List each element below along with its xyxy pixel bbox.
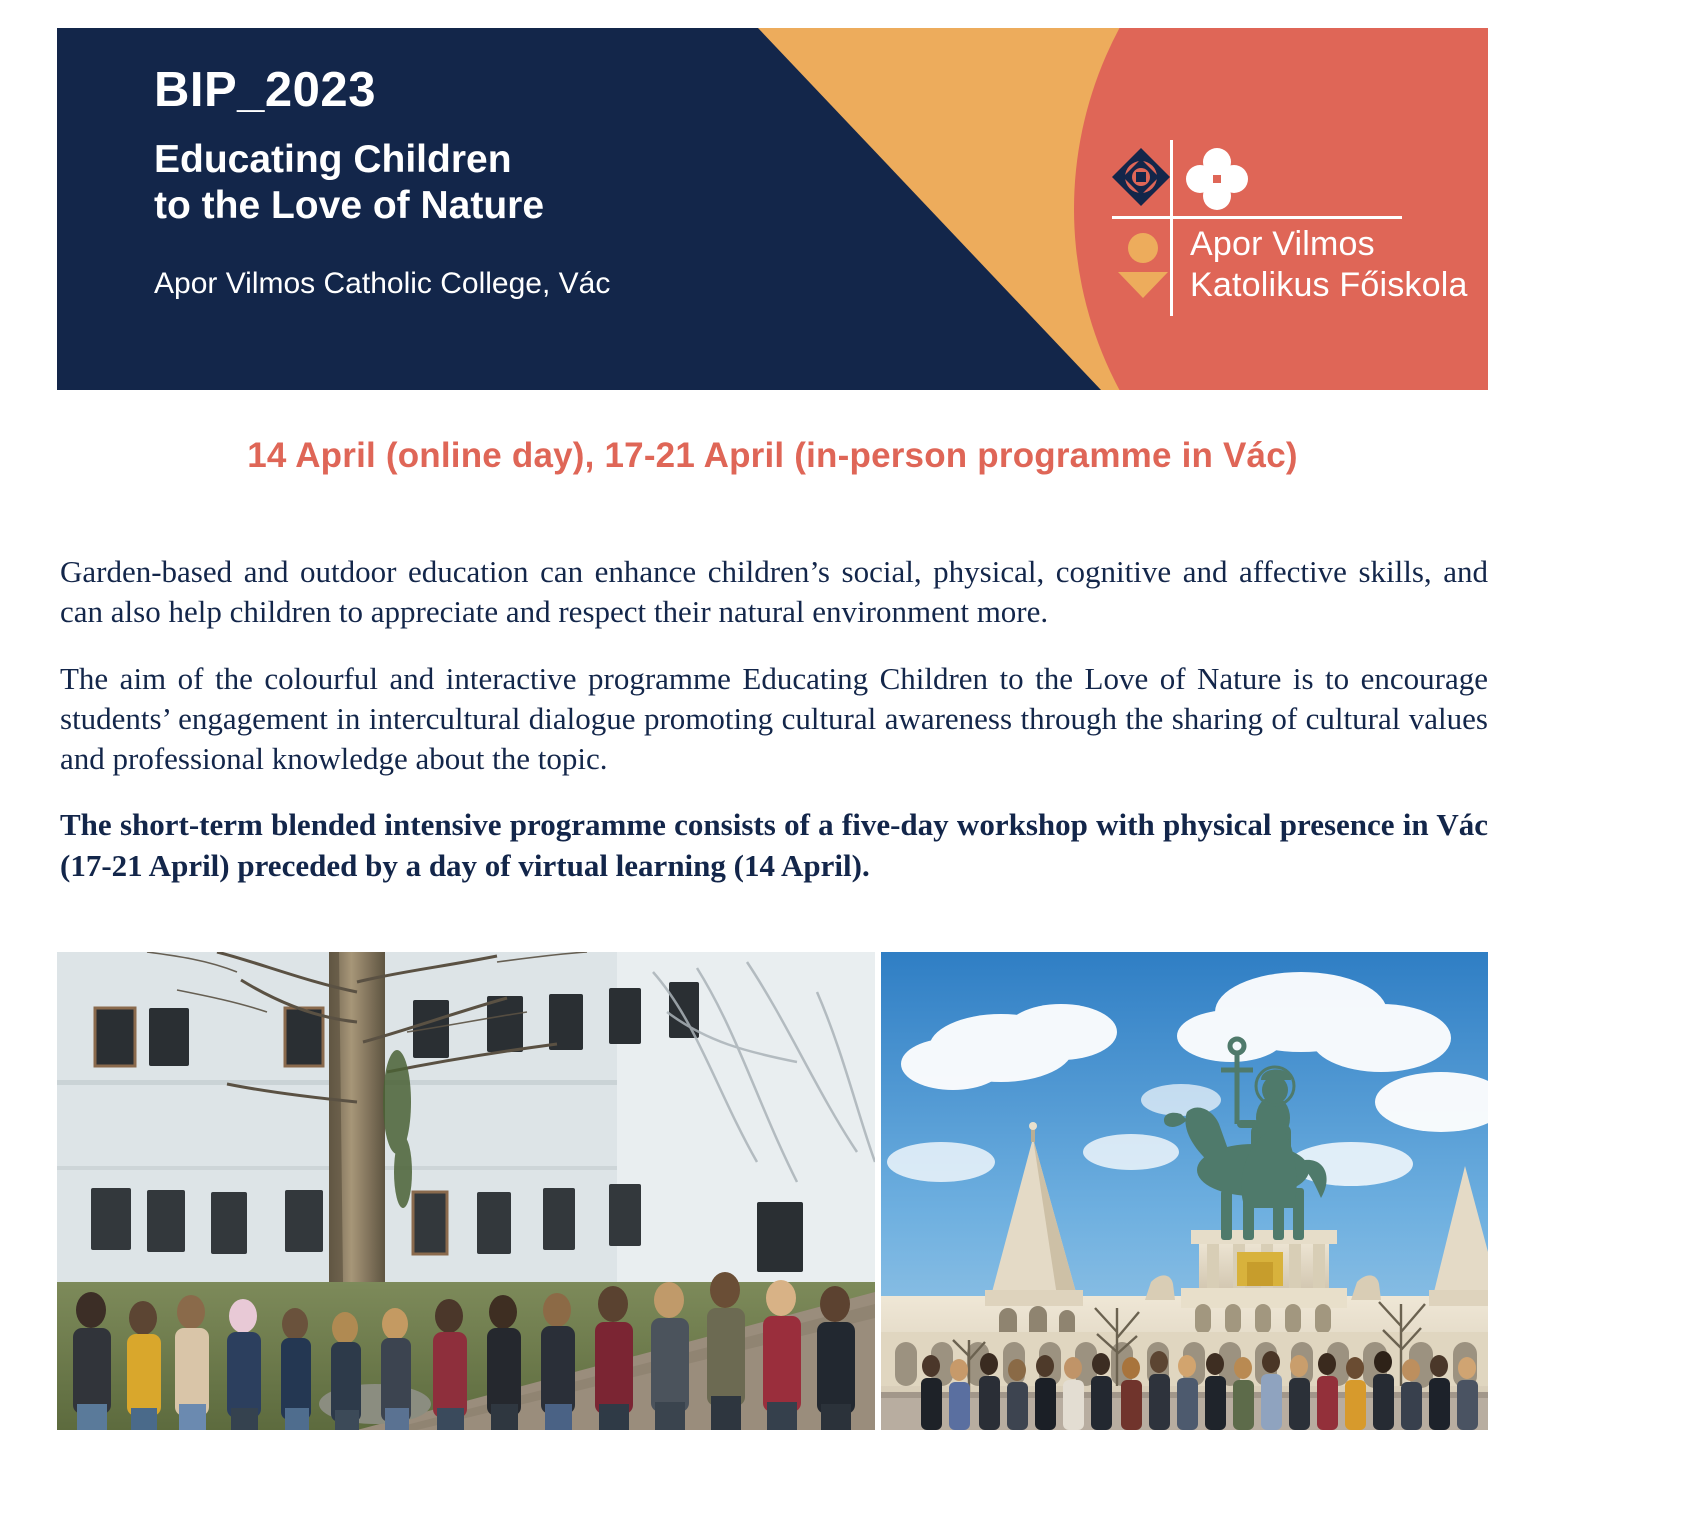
logo-vertical-divider — [1170, 140, 1173, 316]
header-banner: BIP_2023 Educating Children to the Love … — [57, 28, 1488, 390]
page-title: BIP_2023 — [154, 66, 854, 115]
paragraph-2: The aim of the colourful and interactive… — [60, 659, 1488, 780]
paragraph-1: Garden-based and outdoor education can e… — [60, 552, 1488, 633]
white-quatrefoil-icon — [1186, 148, 1248, 210]
body-text-block: Garden-based and outdoor education can e… — [60, 552, 1488, 886]
logo-horizontal-divider — [1112, 216, 1402, 219]
photo-group-fishermans-bastion — [881, 952, 1488, 1430]
logo-name-block: Apor Vilmos Katolikus Főiskola — [1190, 224, 1468, 307]
banner-institution: Apor Vilmos Catholic College, Vác — [154, 267, 854, 300]
banner-text-block: BIP_2023 Educating Children to the Love … — [154, 66, 854, 300]
programme-dateline: 14 April (online day), 17-21 April (in-p… — [57, 436, 1488, 476]
photo-gallery — [57, 952, 1488, 1430]
logo-name-line1: Apor Vilmos — [1190, 224, 1468, 265]
poster-page: BIP_2023 Educating Children to the Love … — [0, 0, 1690, 1532]
navy-diamond-icon — [1112, 148, 1170, 206]
paragraph-3: The short-term blended intensive program… — [60, 805, 1488, 886]
photo-group-outdoors-college-courtyard — [57, 952, 875, 1430]
institution-logo: Apor Vilmos Katolikus Főiskola — [1102, 138, 1488, 318]
banner-subtitle-line2: to the Love of Nature — [154, 183, 854, 229]
yellow-person-icon — [1118, 232, 1168, 298]
banner-subtitle-line1: Educating Children — [154, 137, 854, 183]
logo-name-line2: Katolikus Főiskola — [1190, 265, 1468, 306]
